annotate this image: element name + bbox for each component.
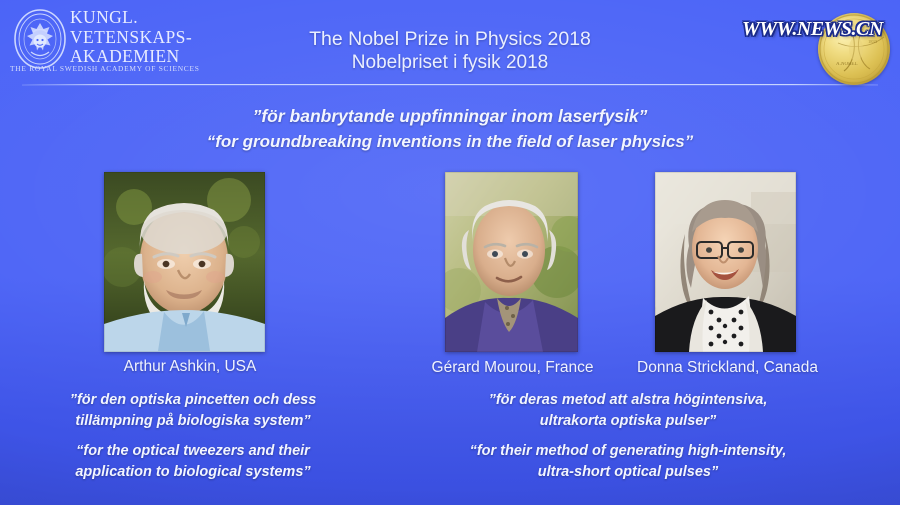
portrait-gerard-mourou: Photo: ELSA Lab	[445, 172, 578, 352]
svg-text:A.NOBEL: A.NOBEL	[836, 62, 858, 67]
sub-citation-english-line1: “for their method of generating high-int…	[418, 441, 838, 462]
spacer	[418, 432, 838, 441]
main-citation: ”för banbrytande uppfinningar inom laser…	[0, 104, 900, 154]
laureate-name-strickland: Donna Strickland, Canada	[620, 359, 835, 377]
photo-credit: Photo: ELSA Lab	[445, 306, 446, 349]
presentation-slide: KUNGL. VETENSKAPS- AKADEMIEN THE ROYAL S…	[0, 0, 900, 505]
sub-citation-english-line1: “for the optical tweezers and their	[18, 441, 368, 462]
news-watermark: WWW.NEWS.CN	[742, 18, 883, 41]
sub-citation-english-line2: ultra-short optical pulses”	[418, 462, 838, 483]
laureate-name-mourou: Gérard Mourou, France	[415, 359, 610, 377]
portrait-arthur-ashkin: Photo: Alma Ashkin	[104, 172, 265, 352]
portrait-donna-strickland: Photo: University of Waterloo	[655, 172, 796, 352]
sub-citation-english-line2: application to biological systems”	[18, 462, 368, 483]
sub-citation-mourou-strickland: ”för deras metod att alstra högintensiva…	[418, 390, 838, 483]
title-swedish: Nobelpriset i fysik 2018	[0, 51, 900, 75]
sub-citation-swedish-line2: tillämpning på biologiska system”	[18, 411, 368, 432]
sub-citation-swedish-line1: ”för den optiska pincetten och dess	[18, 390, 368, 411]
laureate-name-ashkin: Arthur Ashkin, USA	[105, 358, 275, 376]
sub-citation-swedish-line1: ”för deras metod att alstra högintensiva…	[418, 390, 838, 411]
main-citation-swedish: ”för banbrytande uppfinningar inom laser…	[0, 104, 900, 129]
sub-citation-swedish-line2: ultrakorta optiska pulser”	[418, 411, 838, 432]
header-divider	[22, 84, 878, 85]
spacer	[18, 432, 368, 441]
photo-credit: Photo: University of Waterloo	[655, 276, 656, 349]
photo-credit: Photo: Alma Ashkin	[104, 301, 105, 349]
sub-citation-ashkin: ”för den optiska pincetten och dess till…	[18, 390, 368, 483]
main-citation-english: “for groundbreaking inventions in the fi…	[0, 129, 900, 154]
academy-line-1: KUNGL.	[70, 8, 240, 28]
